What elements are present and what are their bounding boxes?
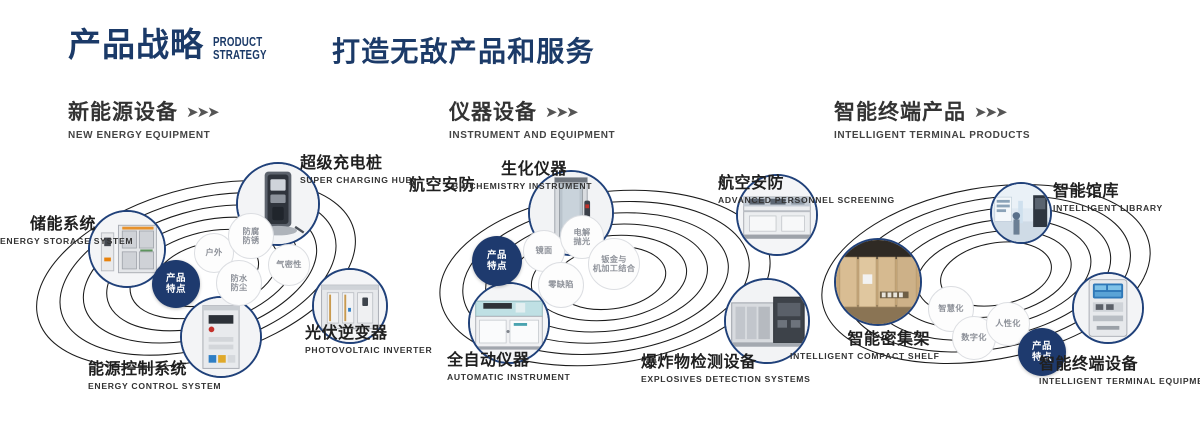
section-title-en: NEW ENERGY EQUIPMENT [68, 130, 218, 141]
label-en: AUTOMATIC INSTRUMENT [447, 372, 570, 383]
label-cn: 生化仪器 [452, 160, 567, 179]
compact-shelving-icon [836, 240, 920, 324]
feature-bubble: 防腐防锈 [228, 213, 274, 259]
section-title-cn: 仪器设备➤➤➤ [449, 96, 615, 126]
label-cn: 能源控制系统 [88, 360, 221, 379]
feature-bubble: 气密性 [268, 244, 310, 286]
feature-bubble-primary: 产品特点 [472, 236, 522, 286]
label-en: INTELLIGENT LIBRARY [1053, 203, 1163, 214]
page-title-english-line2: STRATEGY [213, 49, 267, 62]
section-title-instrument: 仪器设备➤➤➤ INSTRUMENT AND EQUIPMENT [449, 96, 615, 141]
label-cn: 储能系统 [0, 215, 96, 234]
label-cn: 爆炸物检测设备 [641, 353, 811, 372]
feature-bubble: 零缺陷 [538, 262, 584, 308]
page-title-english: PRODUCT STRATEGY [213, 36, 267, 61]
section-title-en: INSTRUMENT AND EQUIPMENT [449, 130, 615, 141]
page-subtitle: 打造无敌产品和服务 [332, 30, 595, 70]
label-intelligent-library: 智能馆库 INTELLIGENT LIBRARY [1053, 182, 1163, 214]
label-super-charging-hub: 超级充电桩 SUPER CHARGING HUB [300, 154, 412, 186]
node-intelligent-library[interactable] [990, 182, 1052, 244]
label-en: ENERGY CONTROL SYSTEM [88, 381, 221, 392]
label-automatic-instrument: 全自动仪器 AUTOMATIC INSTRUMENT [447, 351, 570, 383]
self-service-kiosk-icon [1074, 274, 1142, 342]
label-intelligent-terminal-equipment: 智能终端设备 INTELLIGENT TERMINAL EQUIPMENT [1039, 355, 1200, 387]
feature-bubble: 防水防尘 [216, 260, 262, 306]
page-title: 产品战略 [68, 26, 204, 64]
node-intelligent-terminal-equipment[interactable] [1072, 272, 1144, 344]
label-biochemistry-instrument: 生化仪器 BIOCHEMISTRY INSTRUMENT [452, 160, 567, 192]
chevron-right-icons: ➤➤➤ [974, 103, 1006, 121]
label-en: INTELLIGENT COMPACT SHELF [790, 351, 930, 362]
label-cn: 智能密集架 [790, 330, 930, 349]
label-intelligent-compact-shelf: 智能密集架 INTELLIGENT COMPACT SHELF [790, 330, 930, 362]
section-title-en: INTELLIGENT TERMINAL PRODUCTS [834, 130, 1030, 141]
feature-bubble-primary: 产品特点 [152, 260, 200, 308]
page-title-english-line1: PRODUCT [213, 36, 267, 49]
label-energy-control-system: 能源控制系统 ENERGY CONTROL SYSTEM [88, 360, 221, 392]
chevron-right-icons: ➤➤➤ [186, 103, 218, 121]
label-cn: 智能馆库 [1053, 182, 1163, 201]
label-cn: 全自动仪器 [447, 351, 570, 370]
label-explosives-detection-systems: 爆炸物检测设备 EXPLOSIVES DETECTION SYSTEMS [641, 353, 811, 385]
section-title-cn: 新能源设备➤➤➤ [68, 96, 218, 126]
label-energy-storage-system: 储能系统 ENERGY STORAGE SYSTEM [0, 215, 96, 247]
poster-canvas: 产品战略 PRODUCT STRATEGY 打造无敌产品和服务 新能源设备➤➤➤… [0, 0, 1200, 422]
library-hall-icon [992, 184, 1050, 242]
node-intelligent-compact-shelf[interactable] [834, 238, 922, 326]
label-en: BIOCHEMISTRY INSTRUMENT [452, 181, 567, 192]
section-title-intelligent: 智能终端产品➤➤➤ INTELLIGENT TERMINAL PRODUCTS [834, 96, 1030, 141]
feature-bubble: 钣金与机加工结合 [588, 238, 640, 290]
label-en: EXPLOSIVES DETECTION SYSTEMS [641, 374, 811, 385]
section-title-new-energy: 新能源设备➤➤➤ NEW ENERGY EQUIPMENT [68, 96, 218, 141]
label-cn: 智能终端设备 [1039, 355, 1200, 374]
label-en: SUPER CHARGING HUB [300, 175, 412, 186]
label-cn: 超级充电桩 [300, 154, 412, 173]
label-en: ENERGY STORAGE SYSTEM [0, 236, 96, 247]
label-en: INTELLIGENT TERMINAL EQUIPMENT [1039, 376, 1200, 387]
section-title-cn: 智能终端产品➤➤➤ [834, 96, 1030, 126]
chevron-right-icons: ➤➤➤ [545, 103, 577, 121]
poster-header: 产品战略 PRODUCT STRATEGY [68, 26, 282, 64]
